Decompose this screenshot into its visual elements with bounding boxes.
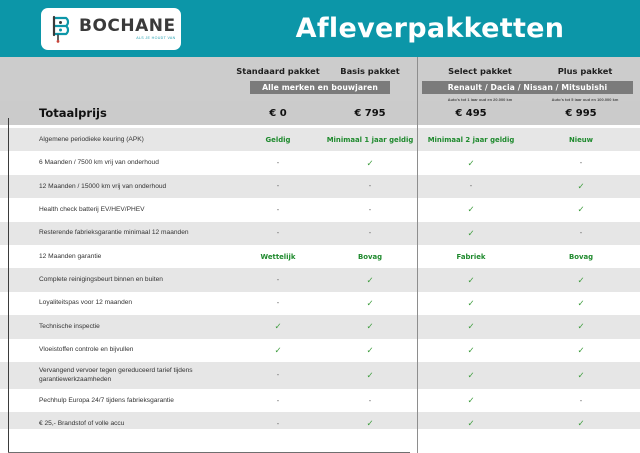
group-divider [417, 57, 418, 453]
cell-basis: ✓ [324, 322, 416, 331]
dash-icon: - [277, 299, 280, 307]
row-label: Loyaliteitspas voor 12 maanden [0, 298, 232, 308]
dash-icon: - [369, 206, 372, 214]
dash-icon: - [277, 420, 280, 428]
dash-icon: - [580, 229, 583, 237]
table-left-border [8, 118, 9, 453]
cell-basis: - [324, 182, 416, 190]
check-icon: ✓ [577, 371, 584, 380]
cell-plus: Nieuw [535, 136, 627, 144]
cell-text: Fabriek [457, 253, 486, 261]
cell-standaard: Geldig [232, 136, 324, 144]
cell-standaard: - [232, 206, 324, 214]
cell-plus: - [535, 229, 627, 237]
total-price-plus: € 995 [535, 108, 627, 119]
check-icon: ✓ [467, 346, 474, 355]
check-icon: ✓ [366, 276, 373, 285]
cell-standaard: - [232, 420, 324, 428]
check-icon: ✓ [366, 419, 373, 428]
cell-basis: ✓ [324, 346, 416, 355]
check-icon: ✓ [366, 346, 373, 355]
cell-plus: ✓ [535, 205, 627, 214]
check-icon: ✓ [467, 159, 474, 168]
check-icon: ✓ [577, 419, 584, 428]
check-icon: ✓ [577, 205, 584, 214]
dash-icon: - [277, 229, 280, 237]
cell-text: Minimaal 1 jaar geldig [327, 136, 414, 144]
table-row: 12 Maanden garantieWettelijkBovagFabriek… [0, 245, 640, 268]
check-icon: ✓ [274, 346, 281, 355]
cell-select: ✓ [425, 346, 517, 355]
cell-plus: - [535, 397, 627, 405]
cell-select: ✓ [425, 229, 517, 238]
check-icon: ✓ [467, 322, 474, 331]
row-label: Health check batterij EV/HEV/PHEV [0, 205, 232, 215]
group-pill-right: Renault / Dacia / Nissan / Mitsubishi [422, 81, 633, 94]
table-row: Vervangend vervoer tegen gereduceerd tar… [0, 362, 640, 389]
cell-basis: Minimaal 1 jaar geldig [324, 136, 416, 144]
cell-basis: - [324, 206, 416, 214]
cell-plus: ✓ [535, 322, 627, 331]
table-row: 6 Maanden / 7500 km vrij van onderhoud-✓… [0, 151, 640, 174]
page-header: BOCHANE ALS JE HOUDT VAN Afleverpakkette… [0, 0, 640, 57]
cell-plus: ✓ [535, 346, 627, 355]
cell-plus: ✓ [535, 182, 627, 191]
check-icon: ✓ [467, 371, 474, 380]
cell-basis: Bovag [324, 253, 416, 261]
row-label: Vervangend vervoer tegen gereduceerd tar… [0, 366, 232, 386]
dash-icon: - [580, 159, 583, 167]
check-icon: ✓ [577, 299, 584, 308]
table-row: Algemene periodieke keuring (APK)GeldigM… [0, 128, 640, 151]
cell-basis: - [324, 229, 416, 237]
cell-plus: - [535, 159, 627, 167]
cell-standaard: - [232, 159, 324, 167]
check-icon: ✓ [467, 276, 474, 285]
dash-icon: - [277, 159, 280, 167]
cell-basis: ✓ [324, 159, 416, 168]
cell-standaard: - [232, 299, 324, 307]
bochane-b-mark-icon [50, 14, 76, 44]
table-row: Loyaliteitspas voor 12 maanden-✓✓✓ [0, 292, 640, 315]
row-label: 12 Maanden / 15000 km vrij van onderhoud [0, 182, 232, 192]
total-price-row: Totaalprijs € 0 € 795 € 495 € 995 [0, 101, 640, 125]
cell-basis: ✓ [324, 276, 416, 285]
dash-icon: - [277, 182, 280, 190]
column-header-plus: Plus pakket [535, 66, 635, 76]
cell-standaard: ✓ [232, 346, 324, 355]
check-icon: ✓ [467, 419, 474, 428]
cell-standaard: ✓ [232, 322, 324, 331]
cell-select: ✓ [425, 371, 517, 380]
row-label: Vloeistoffen controle en bijvullen [0, 345, 232, 355]
cell-basis: ✓ [324, 371, 416, 380]
total-price-standaard: € 0 [232, 108, 324, 119]
cell-text: Minimaal 2 jaar geldig [428, 136, 515, 144]
dash-icon: - [470, 182, 473, 190]
cell-standaard: - [232, 182, 324, 190]
table-row: Health check batterij EV/HEV/PHEV--✓✓ [0, 198, 640, 221]
check-icon: ✓ [467, 205, 474, 214]
cell-plus: ✓ [535, 276, 627, 285]
check-icon: ✓ [366, 322, 373, 331]
check-icon: ✓ [366, 159, 373, 168]
feature-rows: Algemene periodieke keuring (APK)GeldigM… [0, 128, 640, 436]
cell-standaard: - [232, 371, 324, 379]
cell-select: ✓ [425, 322, 517, 331]
cell-text: Bovag [358, 253, 382, 261]
check-icon: ✓ [467, 229, 474, 238]
brand-logo[interactable]: BOCHANE ALS JE HOUDT VAN [41, 8, 181, 50]
check-icon: ✓ [274, 322, 281, 331]
cell-plus: ✓ [535, 371, 627, 380]
row-label: € 25,- Brandstof of volle accu [0, 419, 232, 429]
check-icon: ✓ [366, 371, 373, 380]
cell-select: - [425, 182, 517, 190]
dash-icon: - [277, 397, 280, 405]
cell-basis: - [324, 397, 416, 405]
dash-icon: - [369, 182, 372, 190]
total-price-select: € 495 [425, 108, 517, 119]
table-row: Pechhulp Europa 24/7 tijdens fabrieksgar… [0, 389, 640, 412]
dash-icon: - [369, 397, 372, 405]
cell-select: ✓ [425, 205, 517, 214]
check-icon: ✓ [577, 322, 584, 331]
cell-basis: ✓ [324, 299, 416, 308]
cell-standaard: - [232, 229, 324, 237]
cell-text: Nieuw [569, 136, 593, 144]
table-row: 12 Maanden / 15000 km vrij van onderhoud… [0, 175, 640, 198]
check-icon: ✓ [467, 396, 474, 405]
cell-standaard: - [232, 276, 324, 284]
row-label: Technische inspectie [0, 322, 232, 332]
cell-select: ✓ [425, 419, 517, 428]
cell-select: Fabriek [425, 253, 517, 261]
cell-text: Geldig [266, 136, 291, 144]
dash-icon: - [277, 206, 280, 214]
cell-select: Minimaal 2 jaar geldig [425, 136, 517, 144]
column-header-basis: Basis pakket [324, 66, 416, 76]
cell-select: ✓ [425, 396, 517, 405]
column-header-standaard: Standaard pakket [232, 66, 324, 76]
cell-text: Wettelijk [261, 253, 296, 261]
dash-icon: - [277, 276, 280, 284]
row-label: 6 Maanden / 7500 km vrij van onderhoud [0, 158, 232, 168]
row-label: Algemene periodieke keuring (APK) [0, 135, 232, 145]
comparison-table: Standaard pakket Basis pakket Select pak… [0, 57, 640, 453]
check-icon: ✓ [577, 182, 584, 191]
table-row: Complete reinigingsbeurt binnen en buite… [0, 268, 640, 291]
cell-select: ✓ [425, 276, 517, 285]
total-price-label: Totaalprijs [0, 106, 232, 120]
cell-plus: Bovag [535, 253, 627, 261]
dash-icon: - [580, 397, 583, 405]
brand-tagline: ALS JE HOUDT VAN [79, 37, 176, 41]
group-pill-left: Alle merken en bouwjaren [250, 81, 390, 94]
check-icon: ✓ [467, 299, 474, 308]
cell-basis: ✓ [324, 419, 416, 428]
table-row: Resterende fabrieksgarantie minimaal 12 … [0, 222, 640, 245]
dash-icon: - [369, 229, 372, 237]
column-header-select: Select pakket [425, 66, 535, 76]
table-row: Vloeistoffen controle en bijvullen✓✓✓✓ [0, 339, 640, 362]
cell-standaard: - [232, 397, 324, 405]
cell-plus: ✓ [535, 299, 627, 308]
page-title: Afleverpakketten [220, 0, 640, 57]
cell-select: ✓ [425, 299, 517, 308]
row-label: Pechhulp Europa 24/7 tijdens fabrieksgar… [0, 396, 232, 406]
check-icon: ✓ [366, 299, 373, 308]
row-label: Complete reinigingsbeurt binnen en buite… [0, 275, 232, 285]
row-label: 12 Maanden garantie [0, 252, 232, 262]
check-icon: ✓ [577, 276, 584, 285]
cell-standaard: Wettelijk [232, 253, 324, 261]
table-row: Technische inspectie✓✓✓✓ [0, 315, 640, 338]
brand-name: BOCHANE [79, 18, 176, 35]
dash-icon: - [277, 371, 280, 379]
table-footer-space [0, 429, 640, 453]
afleverpakketten-page: BOCHANE ALS JE HOUDT VAN Afleverpakkette… [0, 0, 640, 453]
total-price-basis: € 795 [324, 108, 416, 119]
cell-text: Bovag [569, 253, 593, 261]
cell-plus: ✓ [535, 419, 627, 428]
cell-select: ✓ [425, 159, 517, 168]
check-icon: ✓ [577, 346, 584, 355]
row-label: Resterende fabrieksgarantie minimaal 12 … [0, 228, 232, 238]
